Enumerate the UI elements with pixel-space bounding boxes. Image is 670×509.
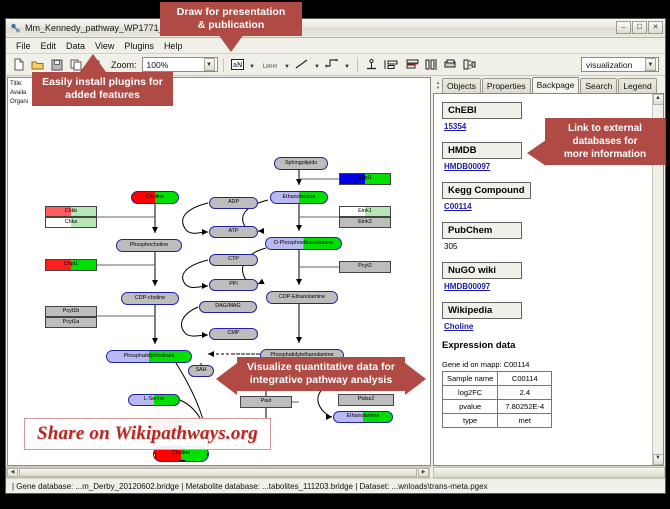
callout-draw-arrow-icon (218, 34, 244, 52)
datanode-dropdown-icon[interactable]: ▼ (248, 57, 257, 73)
selection-handle-6[interactable] (180, 460, 185, 462)
align-left-icon[interactable] (382, 56, 402, 73)
callout-links-line2: databases for (553, 135, 657, 148)
scroll-up-icon[interactable]: ▲ (653, 94, 664, 105)
callout-visualize-arrow-left-icon (216, 363, 237, 395)
db-header-hmdb: HMDB (442, 142, 522, 159)
db-header-pubchem: PubChem (442, 222, 522, 239)
zoom-combobox[interactable]: 100% ▼ (142, 57, 218, 72)
ungroup-icon[interactable] (461, 56, 478, 73)
gene-id-on-mapp: Gene id on mapp: C00114 (442, 360, 646, 369)
gene-node-etnk1[interactable]: Etnk1 (339, 206, 391, 217)
close-button[interactable]: ✕ (648, 21, 663, 34)
callout-links-line1: Link to external (553, 122, 657, 135)
metabolite-node-cmp[interactable]: CMP (209, 328, 258, 340)
gene-node-ptdss2[interactable]: Ptdss2 (338, 394, 394, 406)
connector-dropdown-icon[interactable]: ▼ (343, 57, 352, 73)
gene-node-sgpl1[interactable]: Sgpl1 (339, 173, 391, 185)
expression-key: log2FC (443, 386, 498, 400)
expression-key: type (443, 414, 498, 428)
metabolite-node-sphingolipids[interactable]: Sphingolipids (274, 157, 328, 170)
metabolite-node-adp[interactable]: ADP (209, 197, 258, 209)
minimize-button[interactable]: – (616, 21, 631, 34)
db-value-kegg-compound[interactable]: C00114 (444, 202, 646, 211)
expression-row: log2FC2.4 (443, 386, 552, 400)
pathvisio-app-icon (10, 23, 21, 34)
chevron-down-icon[interactable]: ▼ (204, 58, 215, 71)
callout-plugins-line1: Easily install plugins for (40, 76, 165, 89)
visualization-value: visualization (586, 60, 632, 70)
open-folder-icon[interactable] (29, 56, 46, 73)
label-dropdown-icon[interactable]: ▼ (283, 57, 292, 73)
menu-help[interactable]: Help (159, 41, 188, 51)
line-dropdown-icon[interactable]: ▼ (313, 57, 322, 73)
zoom-label: Zoom: (111, 60, 137, 70)
callout-plugins: Easily install plugins for added feature… (32, 72, 173, 106)
sidebar-tabs: ▲▼ Objects Properties Backpage Search Le… (433, 77, 664, 94)
tab-legend[interactable]: Legend (618, 78, 656, 93)
svg-text:Label: Label (262, 63, 277, 69)
callout-links-arrow-icon (527, 140, 546, 166)
new-file-icon[interactable] (10, 56, 27, 73)
expression-value: C00114 (498, 372, 552, 386)
metabolite-node-ctp[interactable]: CTP (209, 254, 258, 266)
menu-file[interactable]: File (11, 41, 36, 51)
db-value-pubchem: 305 (444, 242, 646, 251)
status-bar: | Gene database: ...m_Derby_20120602.bri… (6, 478, 665, 493)
hscroll-thumb[interactable] (19, 468, 417, 477)
tab-scroll-icon[interactable]: ▲▼ (436, 80, 441, 93)
metabolite-node-cdp-choline[interactable]: CDP-choline (121, 292, 179, 305)
callout-visualize-arrow-right-icon (405, 363, 426, 395)
menu-data[interactable]: Data (61, 41, 90, 51)
scroll-down-icon[interactable]: ▼ (653, 454, 664, 465)
metabolite-node-ethanolamine[interactable]: Ethanolamine (270, 191, 328, 204)
expression-row: Sample nameC00114 (443, 372, 552, 386)
callout-plugins-arrow-icon (80, 54, 106, 72)
svg-text:aN: aN (232, 61, 242, 69)
gene-node-pcyt2[interactable]: Pcyt2 (339, 261, 391, 273)
expression-data-title: Expression data (442, 340, 646, 351)
zoom-value: 100% (147, 60, 169, 70)
metabolite-node-phosphatidylcholines[interactable]: Phosphatidylcholines (106, 350, 192, 363)
db-header-chebi: ChEBI (442, 102, 522, 119)
db-header-wikipedia: Wikipedia (442, 302, 522, 319)
callout-visualize: Visualize quantitative data for integrat… (237, 357, 405, 391)
callout-visualize-line2: integrative pathway analysis (245, 374, 397, 387)
share-text: Share on Wikipathways.org (37, 423, 258, 444)
maximize-button[interactable]: ☐ (632, 21, 647, 34)
callout-visualize-line1: Visualize quantitative data for (245, 361, 397, 374)
horizontal-scrollbar[interactable]: ◀ ▶ (6, 466, 665, 478)
anchor-icon[interactable] (363, 56, 380, 73)
db-value-wikipedia[interactable]: Choline (444, 322, 646, 331)
tab-search[interactable]: Search (580, 78, 617, 93)
callout-draw-line1: Draw for presentation (168, 6, 294, 19)
metabolite-node-atp[interactable]: ATP (209, 226, 258, 238)
connector-icon[interactable] (324, 56, 341, 73)
expression-table: Sample nameC00114log2FC2.4pvalue7.80252E… (442, 371, 552, 428)
expression-row: pvalue7.80252E-4 (443, 400, 552, 414)
screenshot-root: Mm_Kennedy_pathway_WP1771_45176.gpml – ☐… (0, 0, 670, 509)
expression-row: typemet (443, 414, 552, 428)
datanode-icon[interactable]: aN (229, 56, 246, 73)
expression-key: pvalue (443, 400, 498, 414)
group-icon[interactable] (442, 56, 459, 73)
pathway-canvas[interactable]: Title: Availa Organi (7, 77, 431, 466)
callout-draw-line2: & publication (168, 19, 294, 32)
db-value-nugo-wiki[interactable]: HMDB00097 (444, 282, 646, 291)
expression-key: Sample name (443, 372, 498, 386)
db-header-kegg-compound: Kegg Compound (442, 182, 531, 199)
canvas-hscroll[interactable]: ◀ ▶ (6, 467, 430, 478)
menu-edit[interactable]: Edit (36, 41, 62, 51)
callout-draw: Draw for presentation & publication (160, 2, 302, 36)
share-banner: Share on Wikipathways.org (24, 418, 271, 450)
toolbar-separator (223, 58, 224, 72)
metabolite-node-ppi[interactable]: PPi (209, 279, 258, 291)
tab-backpage[interactable]: Backpage (532, 77, 580, 93)
metabolite-node-o-phosphoethanolamine[interactable]: O-Phosphoethanolamine (265, 237, 342, 250)
align-middle-icon[interactable] (404, 56, 421, 73)
distribute-icon[interactable] (423, 56, 440, 73)
save-icon[interactable] (48, 56, 65, 73)
gene-node-pcyt1a[interactable]: Pcyt1a (45, 317, 97, 328)
expression-value: met (498, 414, 552, 428)
metabolite-node-phosphocholine[interactable]: Phosphocholine (116, 239, 182, 252)
metabolite-node-cdp-ethanolamine[interactable]: CDP-Ethanolamine (266, 291, 338, 304)
db-header-nugo-wiki: NuGO wiki (442, 262, 522, 279)
metabolite-node-l-serine[interactable]: L-Serine (128, 394, 180, 406)
visualization-combobox[interactable]: visualization ▼ (581, 57, 659, 72)
tab-objects[interactable]: Objects (442, 78, 481, 93)
expression-value: 2.4 (498, 386, 552, 400)
gene-node-chpt1[interactable]: Chpt1 (45, 259, 97, 271)
menu-plugins[interactable]: Plugins (119, 41, 159, 51)
menu-view[interactable]: View (90, 41, 119, 51)
callout-plugins-line2: added features (40, 89, 165, 102)
window-controls: – ☐ ✕ (616, 21, 663, 34)
metabolite-node-choline[interactable]: Choline (131, 191, 179, 204)
selection-handle-3[interactable] (153, 453, 156, 458)
metabolite-node-sah[interactable]: SAH (188, 365, 214, 377)
status-text: | Gene database: ...m_Derby_20120602.bri… (12, 482, 488, 491)
callout-links-line3: more information (553, 148, 657, 161)
metabolite-node-ethanolamine[interactable]: Ethanolamine (333, 411, 393, 423)
gene-node-chkb[interactable]: Chkb (45, 206, 97, 217)
line-icon[interactable] (294, 56, 311, 73)
label-icon[interactable]: Label (259, 56, 281, 73)
scroll-right-icon[interactable]: ▶ (418, 468, 429, 477)
metabolite-node-dag-mag[interactable]: DAG/MAG (199, 301, 257, 313)
gene-node-chka[interactable]: Chka (45, 217, 97, 228)
title-bar: Mm_Kennedy_pathway_WP1771_45176.gpml – ☐… (6, 19, 665, 38)
gene-node-etnk2[interactable]: Etnk2 (339, 217, 391, 228)
menu-bar: File Edit Data View Plugins Help (6, 38, 665, 54)
chevron-down-icon-vis[interactable]: ▼ (645, 58, 656, 71)
expression-value: 7.80252E-4 (498, 400, 552, 414)
sidebar-hscroll[interactable] (433, 467, 665, 478)
tab-properties[interactable]: Properties (482, 78, 531, 93)
gene-node-pcyt1b[interactable]: Pcyt1b (45, 306, 97, 317)
callout-links: Link to external databases for more info… (545, 118, 665, 165)
toolbar-separator-2 (357, 58, 358, 72)
gene-node-pisd[interactable]: Pisd (240, 396, 292, 408)
scroll-left-icon[interactable]: ◀ (7, 468, 18, 477)
